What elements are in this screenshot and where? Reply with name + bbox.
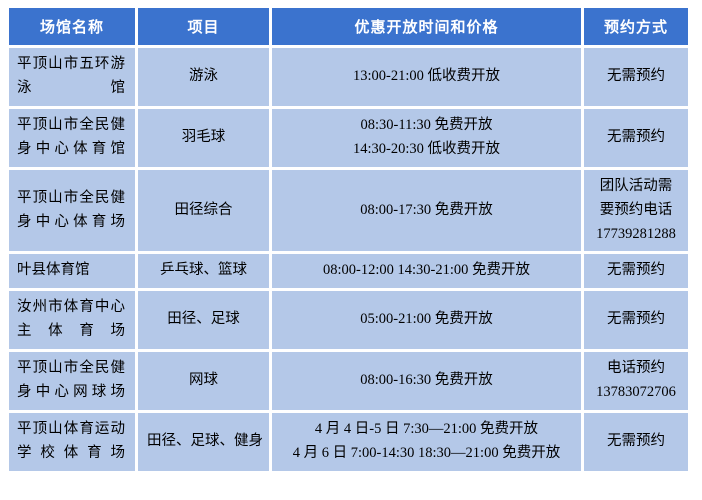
cell-booking-method: 无需预约 (584, 109, 688, 167)
booking-phone: 17739281288 (590, 223, 682, 247)
cell-booking-method: 团队活动需要预约电话17739281288 (584, 170, 688, 252)
booking-line: 无需预约 (590, 259, 682, 283)
venue-schedule-table: 场馆名称 项目 优惠开放时间和价格 预约方式 平顶山市五环游泳馆游泳13:00-… (6, 5, 691, 474)
cell-venue-name: 汝州市体育中心主体育场 (9, 291, 135, 349)
hours-line: 4 月 6 日 7:00-14:30 18:30—21:00 免费开放 (278, 442, 575, 466)
cell-sport: 田径、足球、健身 (138, 413, 269, 471)
cell-booking-method: 无需预约 (584, 413, 688, 471)
booking-line: 团队活动需 (590, 175, 682, 199)
cell-booking-method: 电话预约13783072706 (584, 352, 688, 410)
table-header: 场馆名称 项目 优惠开放时间和价格 预约方式 (9, 8, 688, 45)
hours-line: 08:00-16:30 免费开放 (278, 369, 575, 393)
cell-opening-hours: 08:00-16:30 免费开放 (272, 352, 581, 410)
cell-sport: 网球 (138, 352, 269, 410)
table-row: 汝州市体育中心主体育场田径、足球05:00-21:00 免费开放无需预约 (9, 291, 688, 349)
table-body: 平顶山市五环游泳馆游泳13:00-21:00 低收费开放无需预约平顶山市全民健身… (9, 48, 688, 471)
hours-line: 14:30-20:30 低收费开放 (278, 138, 575, 162)
cell-sport: 羽毛球 (138, 109, 269, 167)
cell-sport: 乒乓球、篮球 (138, 254, 269, 288)
cell-opening-hours: 13:00-21:00 低收费开放 (272, 48, 581, 106)
booking-line: 无需预约 (590, 126, 682, 150)
booking-line: 无需预约 (590, 65, 682, 89)
cell-opening-hours: 08:00-12:00 14:30-21:00 免费开放 (272, 254, 581, 288)
cell-venue-name: 平顶山市五环游泳馆 (9, 48, 135, 106)
venue-table-container: 场馆名称 项目 优惠开放时间和价格 预约方式 平顶山市五环游泳馆游泳13:00-… (0, 0, 702, 474)
table-row: 平顶山市五环游泳馆游泳13:00-21:00 低收费开放无需预约 (9, 48, 688, 106)
hours-line: 08:00-17:30 免费开放 (278, 199, 575, 223)
table-row: 叶县体育馆乒乓球、篮球08:00-12:00 14:30-21:00 免费开放无… (9, 254, 688, 288)
cell-venue-name: 平顶山市全民健身中心体育馆 (9, 109, 135, 167)
column-header-booking: 预约方式 (584, 8, 688, 45)
table-row: 平顶山市全民健身中心体育馆羽毛球08:30-11:30 免费开放14:30-20… (9, 109, 688, 167)
cell-sport: 游泳 (138, 48, 269, 106)
cell-opening-hours: 05:00-21:00 免费开放 (272, 291, 581, 349)
cell-opening-hours: 08:30-11:30 免费开放14:30-20:30 低收费开放 (272, 109, 581, 167)
cell-venue-name: 平顶山市全民健身中心网球场 (9, 352, 135, 410)
column-header-hours: 优惠开放时间和价格 (272, 8, 581, 45)
table-row: 平顶山体育运动学校体育场田径、足球、健身4 月 4 日-5 日 7:30—21:… (9, 413, 688, 471)
booking-line: 无需预约 (590, 308, 682, 332)
cell-booking-method: 无需预约 (584, 48, 688, 106)
cell-sport: 田径、足球 (138, 291, 269, 349)
hours-line: 08:00-12:00 14:30-21:00 免费开放 (278, 259, 575, 283)
table-row: 平顶山市全民健身中心网球场网球08:00-16:30 免费开放电话预约13783… (9, 352, 688, 410)
cell-opening-hours: 4 月 4 日-5 日 7:30—21:00 免费开放4 月 6 日 7:00-… (272, 413, 581, 471)
booking-line: 电话预约 (590, 357, 682, 381)
booking-line: 要预约电话 (590, 199, 682, 223)
booking-phone: 13783072706 (590, 381, 682, 405)
cell-venue-name: 平顶山体育运动学校体育场 (9, 413, 135, 471)
hours-line: 05:00-21:00 免费开放 (278, 308, 575, 332)
cell-sport: 田径综合 (138, 170, 269, 252)
hours-line: 13:00-21:00 低收费开放 (278, 65, 575, 89)
cell-booking-method: 无需预约 (584, 291, 688, 349)
cell-venue-name: 叶县体育馆 (9, 254, 135, 288)
column-header-venue: 场馆名称 (9, 8, 135, 45)
cell-opening-hours: 08:00-17:30 免费开放 (272, 170, 581, 252)
column-header-sport: 项目 (138, 8, 269, 45)
booking-line: 无需预约 (590, 430, 682, 454)
table-row: 平顶山市全民健身中心体育场田径综合08:00-17:30 免费开放团队活动需要预… (9, 170, 688, 252)
cell-booking-method: 无需预约 (584, 254, 688, 288)
hours-line: 4 月 4 日-5 日 7:30—21:00 免费开放 (278, 418, 575, 442)
hours-line: 08:30-11:30 免费开放 (278, 114, 575, 138)
header-row: 场馆名称 项目 优惠开放时间和价格 预约方式 (9, 8, 688, 45)
cell-venue-name: 平顶山市全民健身中心体育场 (9, 170, 135, 252)
